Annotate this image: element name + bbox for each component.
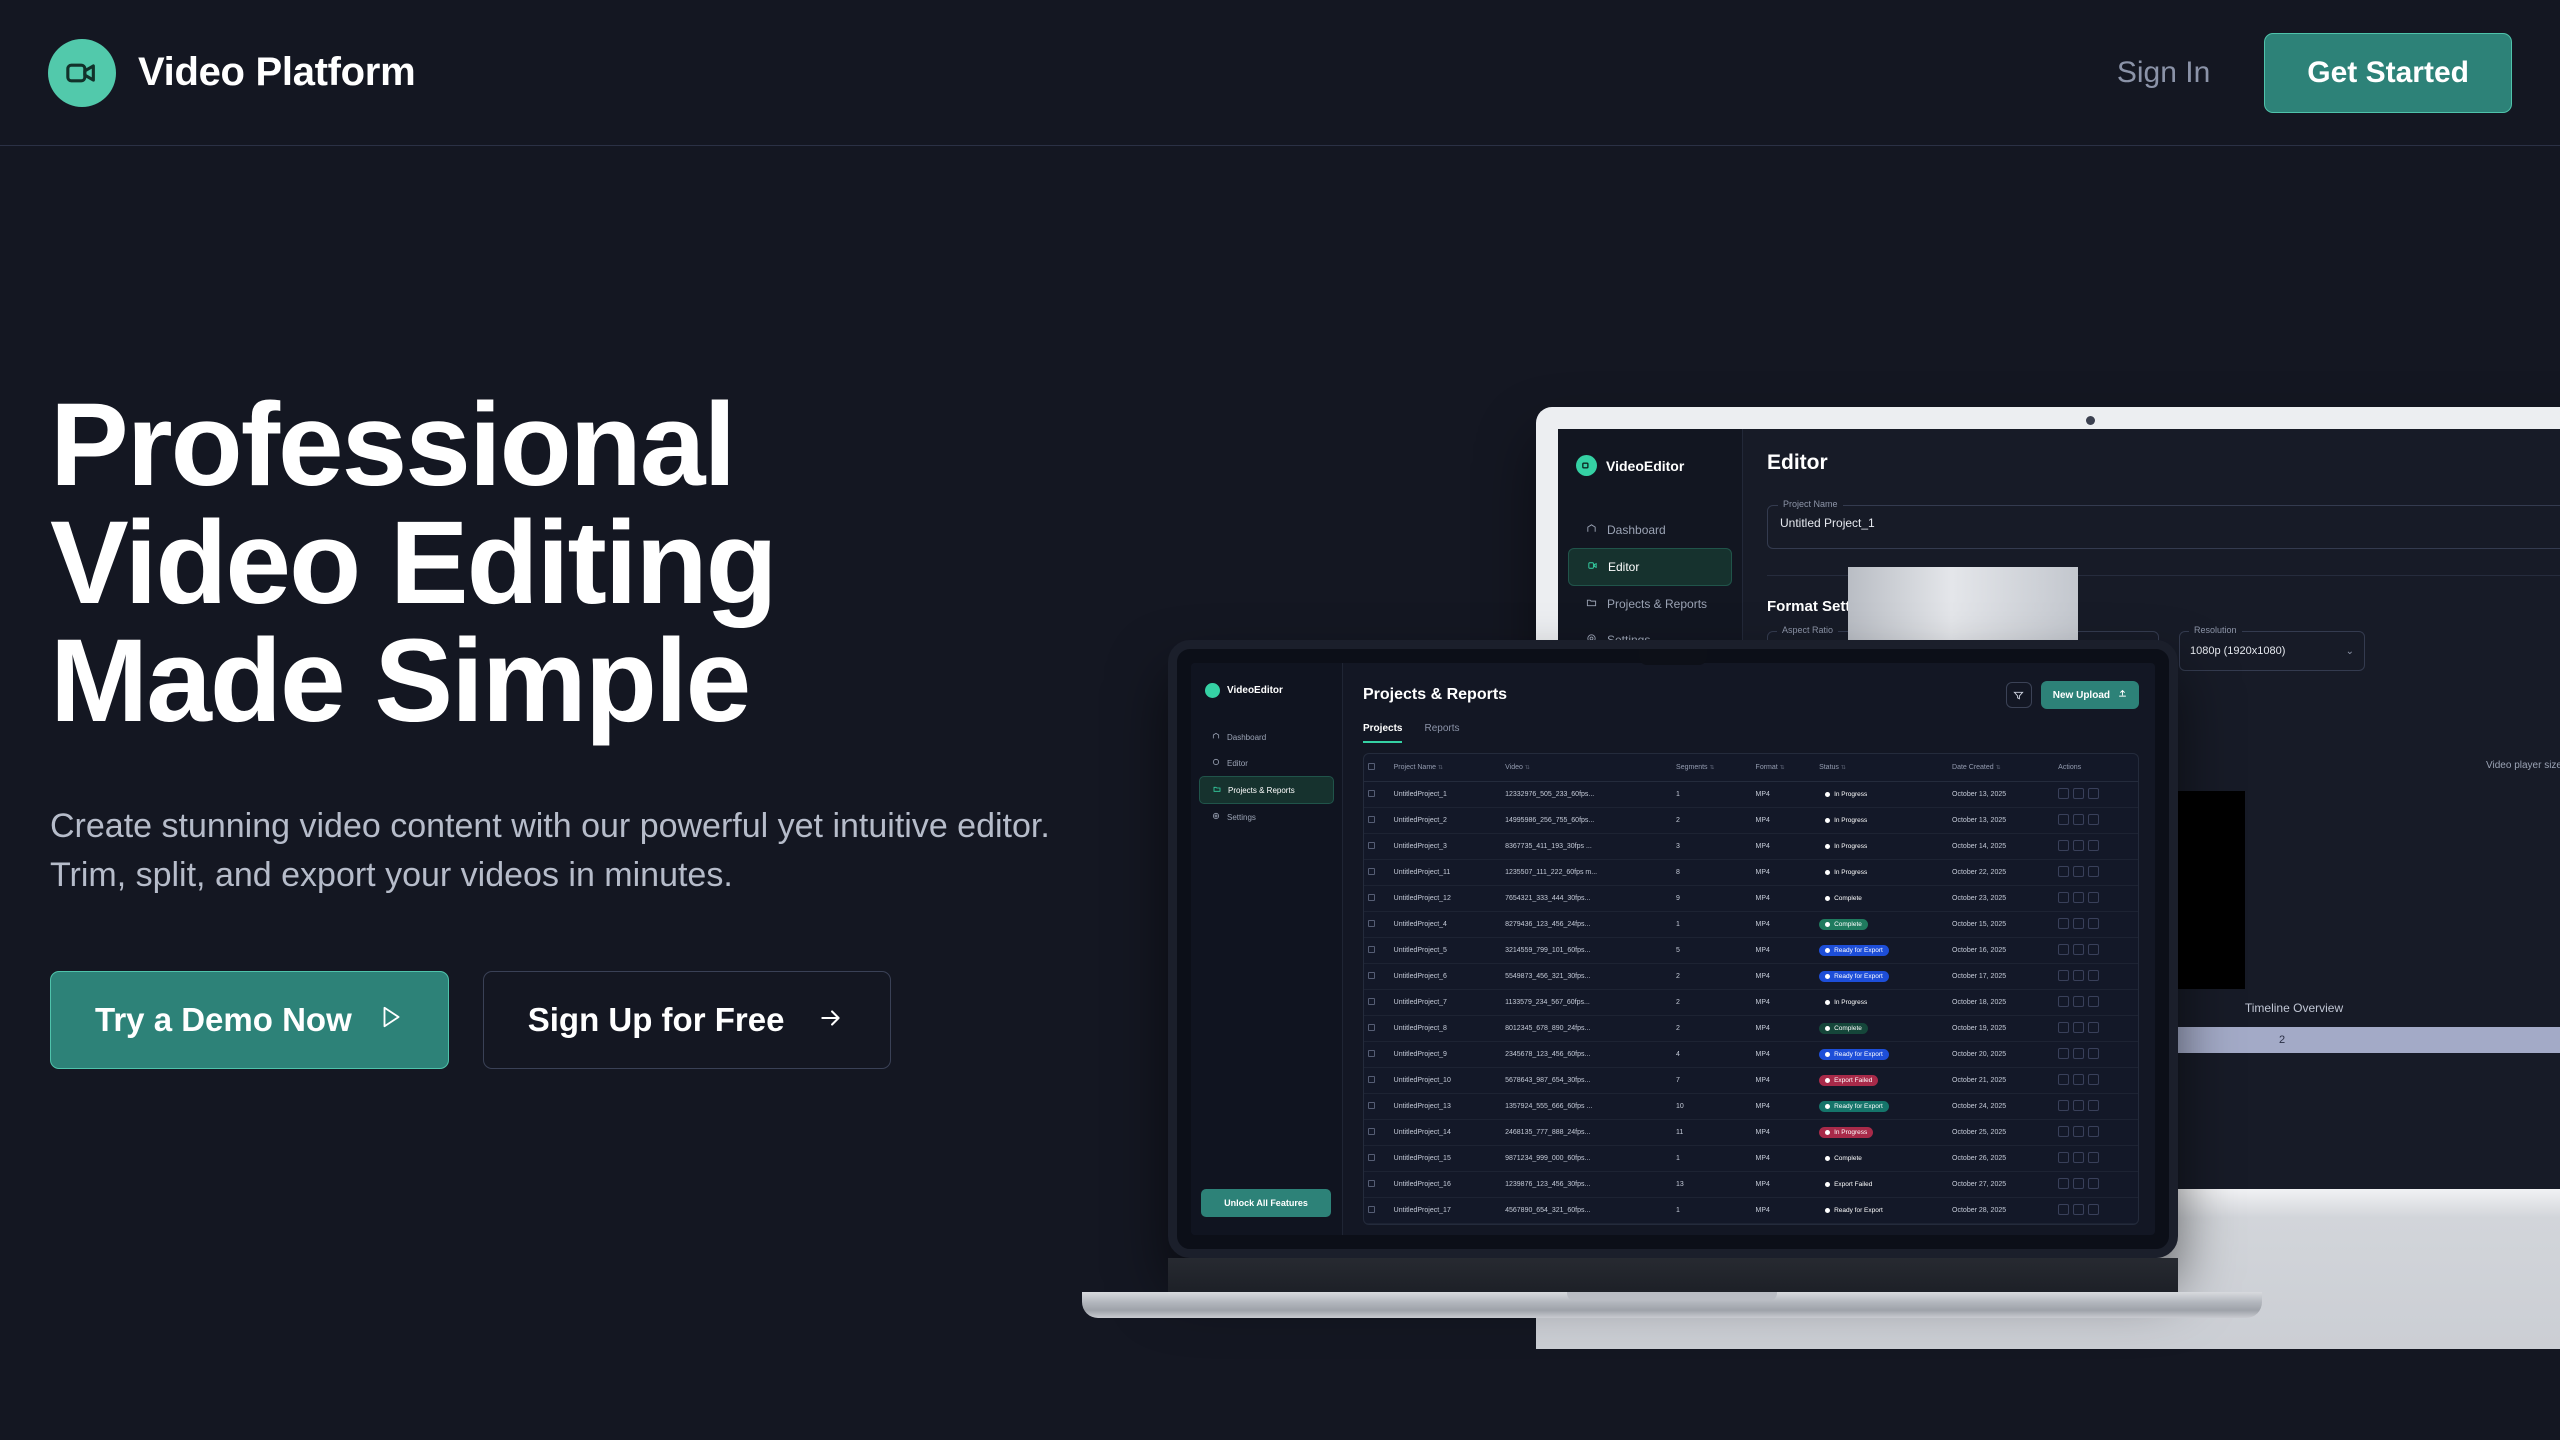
row-checkbox[interactable] xyxy=(1368,790,1375,797)
tab-projects[interactable]: Projects xyxy=(1363,723,1402,743)
cell-format: MP4 xyxy=(1752,964,1816,990)
cell-actions xyxy=(2054,860,2138,886)
row-checkbox-cell[interactable] xyxy=(1364,1094,1390,1120)
download-icon[interactable] xyxy=(2073,1204,2084,1215)
folder-icon xyxy=(1586,597,1597,611)
download-icon[interactable] xyxy=(2073,970,2084,981)
cell-project-name: UntitledProject_9 xyxy=(1390,1042,1501,1068)
cell-actions xyxy=(2054,1042,2138,1068)
cell-actions xyxy=(2054,886,2138,912)
cell-video: 2345678_123_456_60fps... xyxy=(1501,1042,1672,1068)
cell-project-name: UntitledProject_2 xyxy=(1390,808,1501,834)
table-row[interactable]: UntitledProject_127654321_333_444_30fps.… xyxy=(1364,886,2138,912)
cell-status: Ready for Export xyxy=(1815,1042,1948,1068)
cell-status: In Progress xyxy=(1815,1120,1948,1146)
cell-status: Ready for Export xyxy=(1815,1094,1948,1120)
arrow-right-icon xyxy=(816,1001,846,1039)
laptop-mockup: VideoEditor Dashboard Editor xyxy=(1168,640,2178,1318)
brand-name: Video Platform xyxy=(138,50,415,95)
cell-format: MP4 xyxy=(1752,860,1816,886)
resolution-select[interactable]: Resolution 1080p (1920x1080) ⌄ xyxy=(2179,631,2365,671)
cell-actions xyxy=(2054,912,2138,938)
edit-icon[interactable] xyxy=(2058,996,2069,1007)
table-row[interactable]: UntitledProject_161239876_123_456_30fps.… xyxy=(1364,1172,2138,1198)
status-dot-icon xyxy=(1825,1052,1830,1057)
table-row[interactable]: UntitledProject_159871234_999_000_60fps.… xyxy=(1364,1146,2138,1172)
status-label: Ready for Export xyxy=(1834,1103,1883,1110)
edit-icon[interactable] xyxy=(2058,1152,2069,1163)
col-actions: Actions xyxy=(2054,754,2138,782)
cell-status: In Progress xyxy=(1815,834,1948,860)
cell-project-name: UntitledProject_3 xyxy=(1390,834,1501,860)
col-segments[interactable]: Segments ⇅ xyxy=(1672,754,1752,782)
row-checkbox-cell[interactable] xyxy=(1364,912,1390,938)
status-badge: Ready for Export xyxy=(1819,1101,1889,1112)
projects-table: Project Name ⇅ Video ⇅ Segments ⇅ Format… xyxy=(1363,753,2139,1225)
cell-segments: 4 xyxy=(1672,1042,1752,1068)
row-checkbox-cell[interactable] xyxy=(1364,938,1390,964)
status-label: In Progress xyxy=(1834,1129,1867,1136)
cell-date-created: October 13, 2025 xyxy=(1948,782,2054,808)
row-checkbox[interactable] xyxy=(1368,998,1375,1005)
download-icon[interactable] xyxy=(2073,996,2084,1007)
download-icon[interactable] xyxy=(2073,1022,2084,1033)
cell-status: Export Failed xyxy=(1815,1172,1948,1198)
edit-icon[interactable] xyxy=(2058,892,2069,903)
cell-video: 5549873_456_321_30fps... xyxy=(1501,964,1672,990)
download-icon[interactable] xyxy=(2073,944,2084,955)
status-badge: Ready for Export xyxy=(1819,945,1889,956)
row-checkbox-cell[interactable] xyxy=(1364,1198,1390,1224)
delete-icon[interactable] xyxy=(2088,840,2099,851)
edit-icon[interactable] xyxy=(2058,944,2069,955)
download-icon[interactable] xyxy=(2073,1074,2084,1085)
edit-icon[interactable] xyxy=(2058,840,2069,851)
status-label: Ready for Export xyxy=(1834,947,1883,954)
status-dot-icon xyxy=(1825,948,1830,953)
select-value: 1080p (1920x1080) xyxy=(2190,645,2285,657)
table-row[interactable]: UntitledProject_65549873_456_321_30fps..… xyxy=(1364,964,2138,990)
cell-actions xyxy=(2054,808,2138,834)
row-checkbox-cell[interactable] xyxy=(1364,886,1390,912)
row-checkbox-cell[interactable] xyxy=(1364,808,1390,834)
project-name-legend: Project Name xyxy=(1778,499,1843,509)
row-checkbox-cell[interactable] xyxy=(1364,1016,1390,1042)
delete-icon[interactable] xyxy=(2088,1074,2099,1085)
delete-icon[interactable] xyxy=(2088,1022,2099,1033)
cell-project-name: UntitledProject_14 xyxy=(1390,1120,1501,1146)
page-title: Professional Video Editing Made Simple xyxy=(50,386,1200,740)
table-row[interactable]: UntitledProject_53214559_799_101_60fps..… xyxy=(1364,938,2138,964)
edit-icon[interactable] xyxy=(2058,788,2069,799)
delete-icon[interactable] xyxy=(2088,1152,2099,1163)
video-camera-icon xyxy=(1205,683,1220,698)
row-checkbox[interactable] xyxy=(1368,816,1375,823)
delete-icon[interactable] xyxy=(2088,814,2099,825)
cell-date-created: October 13, 2025 xyxy=(1948,808,2054,834)
delete-icon[interactable] xyxy=(2088,1048,2099,1059)
table-row[interactable]: UntitledProject_111235507_111_222_60fps … xyxy=(1364,860,2138,886)
row-checkbox[interactable] xyxy=(1368,842,1375,849)
laptop-lid: VideoEditor Dashboard Editor xyxy=(1168,640,2178,1258)
row-checkbox[interactable] xyxy=(1368,868,1375,875)
cell-date-created: October 22, 2025 xyxy=(1948,860,2054,886)
cell-video: 8367735_411_193_30fps ... xyxy=(1501,834,1672,860)
cell-video: 1239876_123_456_30fps... xyxy=(1501,1172,1672,1198)
device-showcase: VideoEditor Dashboard xyxy=(1300,380,2560,1280)
project-name-field[interactable]: Project Name Untitled Project_1 xyxy=(1767,505,2560,549)
sidebar-label: Dashboard xyxy=(1607,523,1666,537)
projects-main: Projects & Reports New Upload xyxy=(1343,663,2155,1235)
cell-segments: 1 xyxy=(1672,1146,1752,1172)
table-body: UntitledProject_112332976_505_233_60fps.… xyxy=(1364,782,2138,1224)
status-badge: Export Failed xyxy=(1819,1075,1878,1086)
status-label: Ready for Export xyxy=(1834,1051,1883,1058)
cell-format: MP4 xyxy=(1752,886,1816,912)
cell-format: MP4 xyxy=(1752,782,1816,808)
cell-status: Ready for Export xyxy=(1815,1198,1948,1224)
edit-icon[interactable] xyxy=(2058,814,2069,825)
download-icon[interactable] xyxy=(2073,866,2084,877)
delete-icon[interactable] xyxy=(2088,970,2099,981)
status-dot-icon xyxy=(1825,896,1830,901)
sign-in-link[interactable]: Sign In xyxy=(2117,56,2210,90)
sidebar-item-dashboard[interactable]: Dashboard xyxy=(1199,724,1334,750)
sidebar-label: Settings xyxy=(1227,813,1256,822)
cell-status: In Progress xyxy=(1815,860,1948,886)
sidebar-label: Editor xyxy=(1227,759,1248,768)
select-legend: Resolution xyxy=(2189,625,2242,635)
status-badge: In Progress xyxy=(1819,997,1873,1008)
cell-status: Ready for Export xyxy=(1815,964,1948,990)
cell-actions xyxy=(2054,938,2138,964)
row-checkbox-cell[interactable] xyxy=(1364,860,1390,886)
sign-up-label: Sign Up for Free xyxy=(528,1001,785,1039)
cell-project-name: UntitledProject_5 xyxy=(1390,938,1501,964)
cell-format: MP4 xyxy=(1752,912,1816,938)
status-dot-icon xyxy=(1825,1182,1830,1187)
row-checkbox-cell[interactable] xyxy=(1364,782,1390,808)
cell-status: Complete xyxy=(1815,886,1948,912)
cell-video: 8279436_123_456_24fps... xyxy=(1501,912,1672,938)
sidebar-item-editor[interactable]: Editor xyxy=(1199,750,1334,776)
get-started-button[interactable]: Get Started xyxy=(2264,33,2512,113)
edit-icon[interactable] xyxy=(2058,866,2069,877)
sidebar-item-projects-reports[interactable]: Projects & Reports xyxy=(1199,776,1334,804)
filter-icon[interactable] xyxy=(2006,682,2032,708)
row-checkbox[interactable] xyxy=(1368,1128,1375,1135)
download-icon[interactable] xyxy=(2073,1178,2084,1189)
edit-icon[interactable] xyxy=(2058,1100,2069,1111)
hero-cta-row: Try a Demo Now Sign Up for Free xyxy=(50,971,1200,1069)
col-format[interactable]: Format ⇅ xyxy=(1752,754,1816,782)
row-checkbox-cell[interactable] xyxy=(1364,1042,1390,1068)
cell-format: MP4 xyxy=(1752,1198,1816,1224)
cell-date-created: October 25, 2025 xyxy=(1948,1120,2054,1146)
sort-icon[interactable]: ⇅ xyxy=(1438,765,1443,771)
row-checkbox-cell[interactable] xyxy=(1364,990,1390,1016)
status-badge: In Progress xyxy=(1819,789,1873,800)
download-icon[interactable] xyxy=(2073,788,2084,799)
row-checkbox-cell[interactable] xyxy=(1364,1068,1390,1094)
status-label: Complete xyxy=(1834,921,1862,928)
status-label: Export Failed xyxy=(1834,1181,1872,1188)
cell-video: 2468135_777_888_24fps... xyxy=(1501,1120,1672,1146)
slider-label: Video player size xyxy=(2486,760,2560,771)
table-row[interactable]: UntitledProject_174567890_654_321_60fps.… xyxy=(1364,1198,2138,1224)
video-camera-icon xyxy=(48,39,116,107)
cell-video: 8012345_678_890_24fps... xyxy=(1501,1016,1672,1042)
dashboard-icon xyxy=(1212,732,1220,742)
delete-icon[interactable] xyxy=(2088,866,2099,877)
table-row[interactable]: UntitledProject_71133579_234_567_60fps..… xyxy=(1364,990,2138,1016)
laptop-base xyxy=(1082,1292,2262,1318)
status-badge: Ready for Export xyxy=(1819,1049,1889,1060)
editor-page-title: Editor xyxy=(1767,451,1828,475)
delete-icon[interactable] xyxy=(2088,996,2099,1007)
laptop-screen: VideoEditor Dashboard Editor xyxy=(1191,663,2155,1235)
col-select[interactable] xyxy=(1364,754,1390,782)
status-dot-icon xyxy=(1825,1026,1830,1031)
sidebar-item-dashboard[interactable]: Dashboard xyxy=(1568,512,1732,548)
delete-icon[interactable] xyxy=(2088,1204,2099,1215)
cell-project-name: UntitledProject_8 xyxy=(1390,1016,1501,1042)
table-row[interactable]: UntitledProject_142468135_777_888_24fps.… xyxy=(1364,1120,2138,1146)
col-video[interactable]: Video ⇅ xyxy=(1501,754,1672,782)
folder-icon xyxy=(1213,785,1221,795)
cell-segments: 2 xyxy=(1672,964,1752,990)
sort-icon[interactable]: ⇅ xyxy=(1525,765,1530,771)
video-player-size-slider[interactable]: Video player size xyxy=(2486,759,2560,772)
laptop-app-brand: VideoEditor xyxy=(1191,683,1342,698)
delete-icon[interactable] xyxy=(2088,918,2099,929)
cell-format: MP4 xyxy=(1752,1094,1816,1120)
edit-icon[interactable] xyxy=(2058,1126,2069,1137)
delete-icon[interactable] xyxy=(2088,892,2099,903)
row-checkbox-cell[interactable] xyxy=(1364,964,1390,990)
cell-date-created: October 15, 2025 xyxy=(1948,912,2054,938)
cell-format: MP4 xyxy=(1752,1068,1816,1094)
download-icon[interactable] xyxy=(2073,1152,2084,1163)
download-icon[interactable] xyxy=(2073,892,2084,903)
delete-icon[interactable] xyxy=(2088,788,2099,799)
sidebar-label: Dashboard xyxy=(1227,733,1266,742)
projects-header-actions: New Upload xyxy=(2006,681,2139,709)
cell-actions xyxy=(2054,1146,2138,1172)
cell-format: MP4 xyxy=(1752,834,1816,860)
cell-date-created: October 28, 2025 xyxy=(1948,1198,2054,1224)
delete-icon[interactable] xyxy=(2088,944,2099,955)
col-project-name[interactable]: Project Name ⇅ xyxy=(1390,754,1501,782)
monitor-webcam-icon xyxy=(2086,416,2095,425)
dashboard-icon xyxy=(1586,523,1597,537)
status-dot-icon xyxy=(1825,1078,1830,1083)
download-icon[interactable] xyxy=(2073,1048,2084,1059)
row-checkbox-cell[interactable] xyxy=(1364,1120,1390,1146)
cell-segments: 11 xyxy=(1672,1120,1752,1146)
cell-actions xyxy=(2054,1094,2138,1120)
cell-segments: 10 xyxy=(1672,1094,1752,1120)
edit-icon[interactable] xyxy=(2058,970,2069,981)
col-date-created[interactable]: Date Created ⇅ xyxy=(1948,754,2054,782)
download-icon[interactable] xyxy=(2073,814,2084,825)
row-checkbox-cell[interactable] xyxy=(1364,834,1390,860)
status-dot-icon xyxy=(1825,870,1830,875)
delete-icon[interactable] xyxy=(2088,1178,2099,1189)
cell-video: 9871234_999_000_60fps... xyxy=(1501,1146,1672,1172)
download-icon[interactable] xyxy=(2073,1126,2084,1137)
tab-reports[interactable]: Reports xyxy=(1424,723,1459,743)
row-checkbox-cell[interactable] xyxy=(1364,1172,1390,1198)
row-checkbox[interactable] xyxy=(1368,972,1375,979)
table-row[interactable]: UntitledProject_131357924_555_666_60fps … xyxy=(1364,1094,2138,1120)
hero-section: Professional Video Editing Made Simple C… xyxy=(0,146,1200,1069)
row-checkbox[interactable] xyxy=(1368,1154,1375,1161)
status-dot-icon xyxy=(1825,1156,1830,1161)
cell-format: MP4 xyxy=(1752,1172,1816,1198)
row-checkbox[interactable] xyxy=(1368,894,1375,901)
edit-icon[interactable] xyxy=(2058,1022,2069,1033)
status-dot-icon xyxy=(1825,974,1830,979)
row-checkbox[interactable] xyxy=(1368,946,1375,953)
table-row[interactable]: UntitledProject_105678643_987_654_30fps.… xyxy=(1364,1068,2138,1094)
sort-icon[interactable]: ⇅ xyxy=(1996,765,2001,771)
status-badge: In Progress xyxy=(1819,1127,1873,1138)
sort-icon[interactable]: ⇅ xyxy=(1710,765,1715,771)
select-all-checkbox[interactable] xyxy=(1368,763,1375,770)
cell-segments: 8 xyxy=(1672,860,1752,886)
sidebar-item-editor[interactable]: Editor xyxy=(1568,548,1732,586)
status-dot-icon xyxy=(1825,1104,1830,1109)
cell-video: 1357924_555_666_60fps ... xyxy=(1501,1094,1672,1120)
sidebar-label: Editor xyxy=(1608,560,1639,574)
edit-icon[interactable] xyxy=(2058,1204,2069,1215)
table-row[interactable]: UntitledProject_112332976_505_233_60fps.… xyxy=(1364,782,2138,808)
row-checkbox[interactable] xyxy=(1368,1206,1375,1213)
try-demo-button[interactable]: Try a Demo Now xyxy=(50,971,449,1069)
cell-segments: 3 xyxy=(1672,834,1752,860)
site-header: Video Platform Sign In Get Started xyxy=(0,0,2560,146)
cell-date-created: October 18, 2025 xyxy=(1948,990,2054,1016)
status-label: In Progress xyxy=(1834,869,1867,876)
brand[interactable]: Video Platform xyxy=(48,39,415,107)
row-checkbox[interactable] xyxy=(1368,1050,1375,1057)
status-label: Ready for Export xyxy=(1834,973,1883,980)
sidebar-item-projects-reports[interactable]: Projects & Reports xyxy=(1568,586,1732,622)
delete-icon[interactable] xyxy=(2088,1126,2099,1137)
row-checkbox[interactable] xyxy=(1368,920,1375,927)
status-dot-icon xyxy=(1825,1130,1830,1135)
editor-icon xyxy=(1587,560,1598,574)
cell-project-name: UntitledProject_7 xyxy=(1390,990,1501,1016)
cell-actions xyxy=(2054,834,2138,860)
status-label: Complete xyxy=(1834,1155,1862,1162)
cell-actions xyxy=(2054,1016,2138,1042)
status-badge: Complete xyxy=(1819,919,1868,930)
cell-date-created: October 16, 2025 xyxy=(1948,938,2054,964)
laptop-app-brand-name: VideoEditor xyxy=(1227,685,1283,696)
table-row[interactable]: UntitledProject_48279436_123_456_24fps..… xyxy=(1364,912,2138,938)
edit-icon[interactable] xyxy=(2058,1048,2069,1059)
edit-icon[interactable] xyxy=(2058,1074,2069,1085)
hero-title-line-1: Professional xyxy=(50,386,1200,504)
status-label: In Progress xyxy=(1834,999,1867,1006)
sort-icon[interactable]: ⇅ xyxy=(1780,765,1785,771)
cell-video: 4567890_654_321_60fps... xyxy=(1501,1198,1672,1224)
cell-project-name: UntitledProject_4 xyxy=(1390,912,1501,938)
upload-icon xyxy=(2118,689,2127,701)
table-row[interactable]: UntitledProject_38367735_411_193_30fps .… xyxy=(1364,834,2138,860)
edit-icon[interactable] xyxy=(2058,1178,2069,1189)
cell-segments: 2 xyxy=(1672,808,1752,834)
cell-project-name: UntitledProject_13 xyxy=(1390,1094,1501,1120)
cell-status: In Progress xyxy=(1815,782,1948,808)
table-row[interactable]: UntitledProject_88012345_678_890_24fps..… xyxy=(1364,1016,2138,1042)
cell-status: Export Failed xyxy=(1815,1068,1948,1094)
status-dot-icon xyxy=(1825,792,1830,797)
cell-date-created: October 17, 2025 xyxy=(1948,964,2054,990)
cell-actions xyxy=(2054,782,2138,808)
status-label: In Progress xyxy=(1834,817,1867,824)
cell-format: MP4 xyxy=(1752,990,1816,1016)
cell-video: 12332976_505_233_60fps... xyxy=(1501,782,1672,808)
cell-date-created: October 21, 2025 xyxy=(1948,1068,2054,1094)
cell-project-name: UntitledProject_11 xyxy=(1390,860,1501,886)
status-dot-icon xyxy=(1825,818,1830,823)
table-row[interactable]: UntitledProject_214995986_256_755_60fps.… xyxy=(1364,808,2138,834)
cell-video: 7654321_333_444_30fps... xyxy=(1501,886,1672,912)
new-upload-button[interactable]: New Upload xyxy=(2041,681,2139,709)
status-badge: Ready for Export xyxy=(1819,1205,1889,1216)
cell-segments: 2 xyxy=(1672,990,1752,1016)
select-legend: Aspect Ratio xyxy=(1777,625,1838,635)
status-badge: Complete xyxy=(1819,1023,1868,1034)
cell-project-name: UntitledProject_17 xyxy=(1390,1198,1501,1224)
table-row[interactable]: UntitledProject_92345678_123_456_60fps..… xyxy=(1364,1042,2138,1068)
status-label: Complete xyxy=(1834,1025,1862,1032)
delete-icon[interactable] xyxy=(2088,1100,2099,1111)
unlock-all-features-button[interactable]: Unlock All Features xyxy=(1201,1189,1331,1217)
try-demo-label: Try a Demo Now xyxy=(95,1001,352,1039)
status-dot-icon xyxy=(1825,922,1830,927)
row-checkbox-cell[interactable] xyxy=(1364,1146,1390,1172)
hero-subtitle: Create stunning video content with our p… xyxy=(50,802,1120,901)
sign-up-button[interactable]: Sign Up for Free xyxy=(483,971,892,1069)
cell-actions xyxy=(2054,1120,2138,1146)
download-icon[interactable] xyxy=(2073,840,2084,851)
cell-actions xyxy=(2054,1172,2138,1198)
edit-icon[interactable] xyxy=(2058,918,2069,929)
sidebar-label: Projects & Reports xyxy=(1607,597,1707,611)
download-icon[interactable] xyxy=(2073,1100,2084,1111)
status-badge: In Progress xyxy=(1819,841,1873,852)
cell-date-created: October 26, 2025 xyxy=(1948,1146,2054,1172)
hero-title-line-2: Video Editing xyxy=(50,504,1200,622)
cell-actions xyxy=(2054,964,2138,990)
row-checkbox[interactable] xyxy=(1368,1102,1375,1109)
row-checkbox[interactable] xyxy=(1368,1076,1375,1083)
play-triangle-icon xyxy=(378,1001,404,1039)
col-status[interactable]: Status ⇅ xyxy=(1815,754,1948,782)
cell-video: 1235507_111_222_60fps m... xyxy=(1501,860,1672,886)
cell-video: 5678643_987_654_30fps... xyxy=(1501,1068,1672,1094)
download-icon[interactable] xyxy=(2073,918,2084,929)
sidebar-label: Projects & Reports xyxy=(1228,786,1295,795)
sort-icon[interactable]: ⇅ xyxy=(1841,765,1846,771)
row-checkbox[interactable] xyxy=(1368,1180,1375,1187)
row-checkbox[interactable] xyxy=(1368,1024,1375,1031)
sidebar-item-settings[interactable]: Settings xyxy=(1199,804,1334,830)
